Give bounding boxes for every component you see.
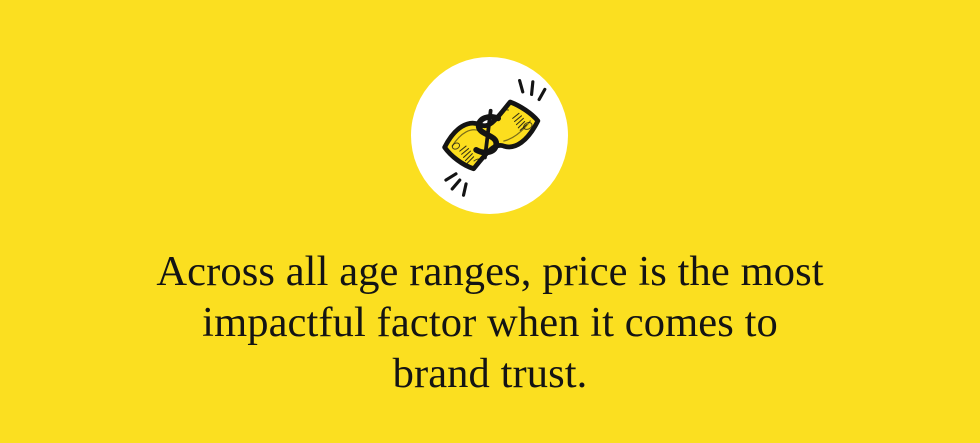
headline-line-2: impactful factor when it comes to — [60, 297, 920, 348]
headline-line-1: Across all age ranges, price is the most — [60, 246, 920, 297]
headline: Across all age ranges, price is the most… — [0, 246, 980, 399]
insight-slide: Across all age ranges, price is the most… — [0, 0, 980, 443]
money-bill-icon — [427, 73, 553, 199]
motion-lines-bottom-left — [445, 173, 465, 194]
headline-line-3: brand trust. — [60, 348, 920, 399]
icon-badge — [411, 57, 568, 214]
motion-lines-top-right — [519, 80, 544, 99]
